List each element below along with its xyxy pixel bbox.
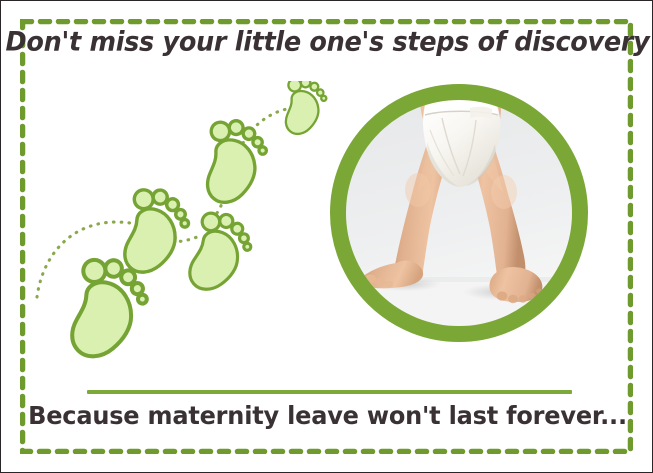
- baby-photo-circle: [330, 84, 588, 342]
- poster-canvas: Don't miss your little one's steps of di…: [0, 0, 653, 473]
- tagline-text: Because maternity leave won't last forev…: [1, 401, 653, 430]
- footprint-icon: [178, 206, 258, 292]
- footprint-icon: [271, 81, 335, 138]
- footprint-icon: [108, 180, 198, 276]
- footprint-icon: [186, 109, 279, 207]
- footprint-trail-svg: [31, 81, 341, 381]
- footprint-trail-graphic: [31, 81, 341, 381]
- divider-rule: [87, 390, 572, 394]
- baby-photo-svg: [330, 84, 588, 342]
- page-title: Don't miss your little one's steps of di…: [1, 26, 653, 58]
